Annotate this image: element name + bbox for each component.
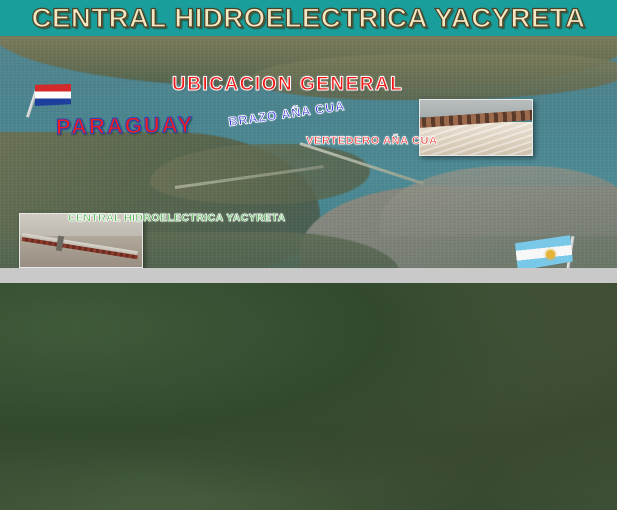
argentina-flag — [516, 236, 586, 268]
page-title: CENTRAL HIDROELECTRICA YACYRETA — [32, 3, 586, 34]
paraguay-flag — [27, 84, 71, 118]
spillway-photo — [419, 99, 533, 156]
panel-divider — [0, 268, 617, 283]
bottom-satellite-map: AÑA CUA SAN JOSE MI PRINCIPAL EMBALSE VB… — [0, 283, 617, 510]
poster-root: CENTRAL HIDROELECTRICA YACYRETA — [0, 0, 617, 510]
flag-cloth — [35, 84, 71, 106]
country-label-paraguay: PARAGUAY — [56, 114, 195, 138]
label-vertedero-ana-cua: VERTEDERO AÑA CUA — [306, 136, 438, 147]
sun-of-may-icon — [546, 250, 555, 259]
top-satellite-map: UBICACION GENERAL PARAGUAY BRAZO AÑA CUA… — [0, 36, 617, 268]
terrain-base — [0, 283, 617, 510]
section-heading-ubicacion-general: UBICACION GENERAL — [172, 75, 403, 94]
title-bar: CENTRAL HIDROELECTRICA YACYRETA — [0, 0, 617, 36]
label-central-hidroelectrica-yacyreta: CENTRAL HIDROELECTRICA YACYRETA — [68, 213, 286, 224]
flag-cloth — [515, 235, 574, 268]
